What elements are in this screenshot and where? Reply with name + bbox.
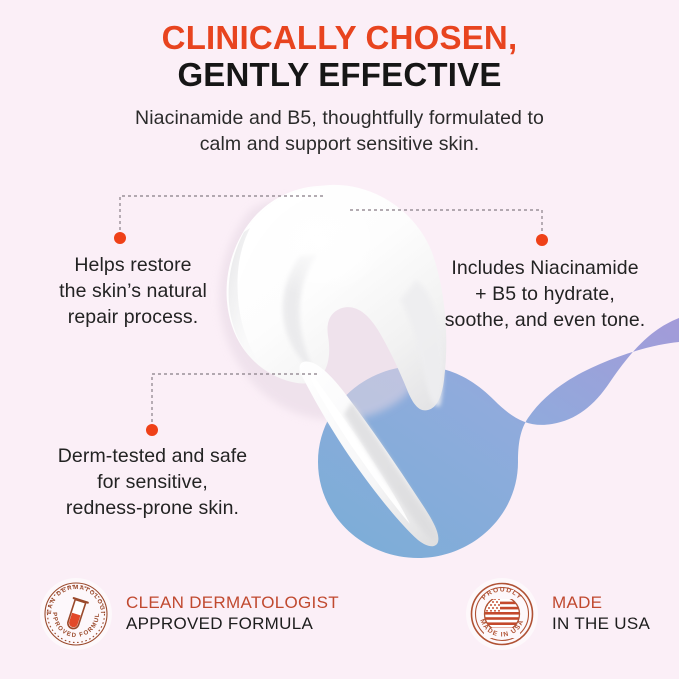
callout-niacinamide-line-3: soothe, and even tone.	[420, 307, 670, 333]
callout-derm-tested-line-3: redness-prone skin.	[20, 495, 285, 521]
badge-clean-label: CLEAN DERMATOLOGIST APPROVED FORMULA	[126, 593, 339, 634]
callout-niacinamide: Includes Niacinamide + B5 to hydrate, so…	[420, 255, 670, 333]
test-tube-seal-icon: CLEAN DERMATOLOGIST APPROVED FORMULA	[40, 578, 112, 650]
callout-restore-line-2: the skin’s natural	[18, 278, 248, 304]
leader-line-restore	[120, 196, 326, 236]
callout-niacinamide-line-2: + B5 to hydrate,	[420, 281, 670, 307]
badge-usa-label-line-1: MADE	[552, 593, 650, 614]
badge-usa-label-line-2: IN THE USA	[552, 614, 650, 635]
callout-derm-tested-line-1: Derm-tested and safe	[20, 443, 285, 469]
header-block: CLINICALLY CHOSEN, GENTLY EFFECTIVE Niac…	[0, 20, 679, 157]
leader-line-derm-tested	[152, 374, 318, 428]
subheadline: Niacinamide and B5, thoughtfully formula…	[70, 106, 610, 157]
trust-badges: CLEAN DERMATOLOGIST APPROVED FORMULA CLE…	[0, 578, 679, 663]
callout-restore-line-3: repair process.	[18, 304, 248, 330]
badge-made-in-usa: PROUDLY MADE IN USA MADE IN THE USA	[466, 578, 650, 650]
callout-dot-niacinamide	[536, 234, 548, 246]
callout-dot-derm-tested	[146, 424, 158, 436]
headline-line-2: GENTLY EFFECTIVE	[0, 57, 679, 94]
subheadline-line-2: calm and support sensitive skin.	[70, 132, 610, 158]
badge-usa-label: MADE IN THE USA	[552, 593, 650, 634]
headline-line-1: CLINICALLY CHOSEN,	[0, 20, 679, 57]
usa-flag-seal-icon: PROUDLY MADE IN USA	[466, 578, 538, 650]
callout-derm-tested-line-2: for sensitive,	[20, 469, 285, 495]
callout-restore-line-1: Helps restore	[18, 252, 248, 278]
badge-clean-label-line-1: CLEAN DERMATOLOGIST	[126, 593, 339, 614]
leader-line-niacinamide	[350, 210, 542, 238]
callout-niacinamide-line-1: Includes Niacinamide	[420, 255, 670, 281]
badge-clean-dermatologist: CLEAN DERMATOLOGIST APPROVED FORMULA CLE…	[40, 578, 339, 650]
callout-restore: Helps restore the skin’s natural repair …	[18, 252, 248, 330]
callout-dot-restore	[114, 232, 126, 244]
callout-derm-tested: Derm-tested and safe for sensitive, redn…	[20, 443, 285, 521]
infographic-canvas: CLINICALLY CHOSEN, GENTLY EFFECTIVE Niac…	[0, 0, 679, 679]
subheadline-line-1: Niacinamide and B5, thoughtfully formula…	[70, 106, 610, 132]
badge-clean-label-line-2: APPROVED FORMULA	[126, 614, 339, 635]
